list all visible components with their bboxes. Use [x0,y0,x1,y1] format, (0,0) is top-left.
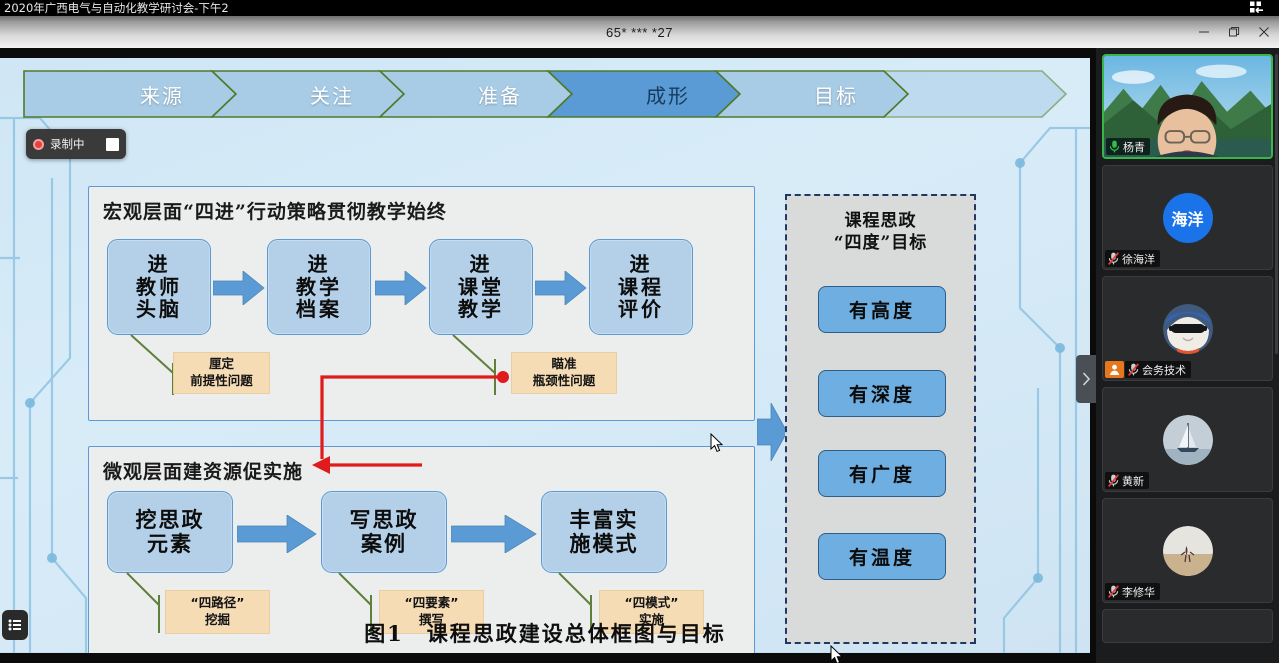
mic-muted-icon [1108,585,1119,598]
participant-name-4: 黄新 [1122,473,1144,489]
mic-muted-icon [1128,363,1139,376]
participant-namebar-2: 徐海洋 [1105,250,1160,267]
macro-node-2[interactable]: 进 教学 档案 [267,239,371,335]
participant-name-1: 杨青 [1123,139,1145,155]
micro-callout-3-line1: “四模式” [625,595,679,612]
macro-node-4-line2: 课程 [618,276,664,298]
micro-node-2[interactable]: 写思政 案例 [321,491,447,573]
goal-item-2[interactable]: 有深度 [818,370,946,417]
list-menu-icon[interactable] [2,610,28,640]
macro-node-3-line1: 进 [458,253,504,275]
macro-node-1-line3: 头脑 [136,298,182,320]
macro-node-2-line3: 档案 [296,298,342,320]
micro-panel-title: 微观层面建资源促实施 [103,457,303,484]
host-badge-3 [1105,361,1124,378]
chevron-right-icon [1082,372,1091,386]
figure-caption: 图1 课程思政建设总体框图与目标 [0,618,1090,648]
participants-rail[interactable]: 杨青 海洋 徐海洋 [1096,48,1279,663]
participant-tile-4[interactable]: 黄新 [1102,387,1273,492]
participant-tile-5[interactable]: 李修华 [1102,498,1273,603]
macro-arrow-2-icon [375,271,427,305]
step-label-2[interactable]: 关注 [252,70,412,118]
micro-node-3-line2: 施模式 [570,532,639,556]
participant-tile-1[interactable]: 杨青 [1102,54,1273,159]
goal-item-4[interactable]: 有温度 [818,533,946,580]
participant-avatar-4 [1163,415,1213,465]
minimize-button[interactable] [1189,16,1219,48]
micro-node-2-line1: 写思政 [350,508,419,532]
macro-node-3-line2: 课堂 [458,276,504,298]
step-label-3[interactable]: 准备 [420,70,580,118]
goal-item-1[interactable]: 有高度 [818,286,946,333]
screen: 2020年广西电气与自动化教学研讨会-下午2 65* *** *27 [0,0,1279,663]
recording-indicator[interactable]: 录制中 [26,129,126,159]
os-taskbar: 2020年广西电气与自动化教学研讨会-下午2 [0,0,1279,16]
process-steps: 来源 关注 准备 成形 目标 [22,70,1068,118]
step-label-1[interactable]: 来源 [82,70,242,118]
participant-name-5: 李修华 [1122,584,1155,600]
window-controls [1189,16,1279,48]
macro-node-3-line3: 教学 [458,298,504,320]
macro-arrow-3-icon [535,271,587,305]
mic-muted-icon [1108,252,1119,265]
step-label-5[interactable]: 目标 [756,70,916,118]
participant-avatar-initials-2: 海洋 [1171,206,1203,230]
macro-callout-2-line2: 瓶颈性问题 [533,373,596,390]
participants-scrollbar[interactable] [1275,54,1278,354]
mic-muted-icon [1108,474,1119,487]
macro-callout-1: 厘定 前提性问题 [173,352,270,394]
macro-callout-1-line1: 厘定 [209,356,234,373]
participant-namebar-1: 杨青 [1106,138,1150,155]
micro-node-3-line1: 丰富实 [570,508,639,532]
mouse-cursor [710,433,724,453]
app-switcher-icon[interactable] [1239,0,1267,16]
macro-node-3[interactable]: 进 课堂 教学 [429,239,533,335]
os-taskbar-title: 2020年广西电气与自动化教学研讨会-下午2 [4,1,229,15]
maximize-button[interactable] [1219,16,1249,48]
participant-avatar-2: 海洋 [1163,193,1213,243]
macro-node-1[interactable]: 进 教师 头脑 [107,239,211,335]
mouse-cursor-secondary [830,645,844,663]
participant-namebar-5: 李修华 [1105,583,1160,600]
mic-unmuted-icon [1109,140,1120,153]
presentation-slide: 来源 关注 准备 成形 目标 建设经历 宏观层面“四进”行动策略贯彻教学始终 进… [0,58,1090,653]
goal-item-3[interactable]: 有广度 [818,450,946,497]
close-icon [1258,26,1270,38]
participant-avatar-5 [1163,526,1213,576]
participant-tile-6-partial[interactable] [1102,609,1273,643]
macro-node-1-line2: 教师 [136,276,182,298]
minimize-icon [1198,26,1210,38]
goals-pointer-arrow-icon [757,403,787,461]
collapse-panel-button[interactable] [1076,355,1096,403]
macro-node-2-line2: 教学 [296,276,342,298]
host-person-icon [1109,364,1120,375]
micro-node-2-line2: 案例 [350,532,419,556]
macro-node-1-line1: 进 [136,253,182,275]
micro-node-3[interactable]: 丰富实 施模式 [541,491,667,573]
macro-panel-title: 宏观层面“四进”行动策略贯彻教学始终 [103,197,447,224]
participant-namebar-4: 黄新 [1105,472,1149,489]
macro-node-4-line3: 评价 [618,298,664,320]
window-title: 65* *** *27 [606,25,673,40]
macro-callout-2-line1: 瞄准 [551,356,576,373]
macro-callout-1-line2: 前提性问题 [190,373,253,390]
record-dot-icon [33,139,44,150]
micro-arrow-2-icon [451,515,537,553]
participant-namebar-3: 会务技术 [1125,361,1191,378]
maximize-icon [1228,26,1240,38]
participant-avatar-3 [1163,304,1213,354]
macro-node-4[interactable]: 进 课程 评价 [589,239,693,335]
micro-node-1-line1: 挖思政 [136,508,205,532]
step-label-4[interactable]: 成形 [588,70,748,118]
stop-square-icon[interactable] [106,138,119,151]
macro-node-2-line1: 进 [296,253,342,275]
app-titlebar: 65* *** *27 [0,16,1279,48]
participant-name-3: 会务技术 [1142,362,1186,378]
goals-title-line2: “四度”目标 [787,232,974,254]
macro-node-4-line1: 进 [618,253,664,275]
micro-callout-2-line1: “四要素” [405,595,459,612]
macro-arrow-1-icon [213,271,265,305]
participant-name-2: 徐海洋 [1122,251,1155,267]
goals-panel-title: 课程思政 “四度”目标 [787,210,974,254]
goals-title-line1: 课程思政 [787,210,974,232]
red-annotation-arrow-icon [300,448,430,482]
micro-node-1-line2: 元素 [136,532,205,556]
participant-tile-2[interactable]: 海洋 徐海洋 [1102,165,1273,270]
micro-node-1[interactable]: 挖思政 元素 [107,491,233,573]
close-button[interactable] [1249,16,1279,48]
goals-panel: 课程思政 “四度”目标 有高度 有深度 有广度 有温度 [785,194,976,644]
micro-arrow-1-icon [237,515,317,553]
shared-screen-stage: 来源 关注 准备 成形 目标 建设经历 宏观层面“四进”行动策略贯彻教学始终 进… [0,48,1096,663]
micro-callout-1-line1: “四路径” [191,595,245,612]
participant-tile-3[interactable]: 会务技术 [1102,276,1273,381]
recording-label: 录制中 [50,136,85,152]
